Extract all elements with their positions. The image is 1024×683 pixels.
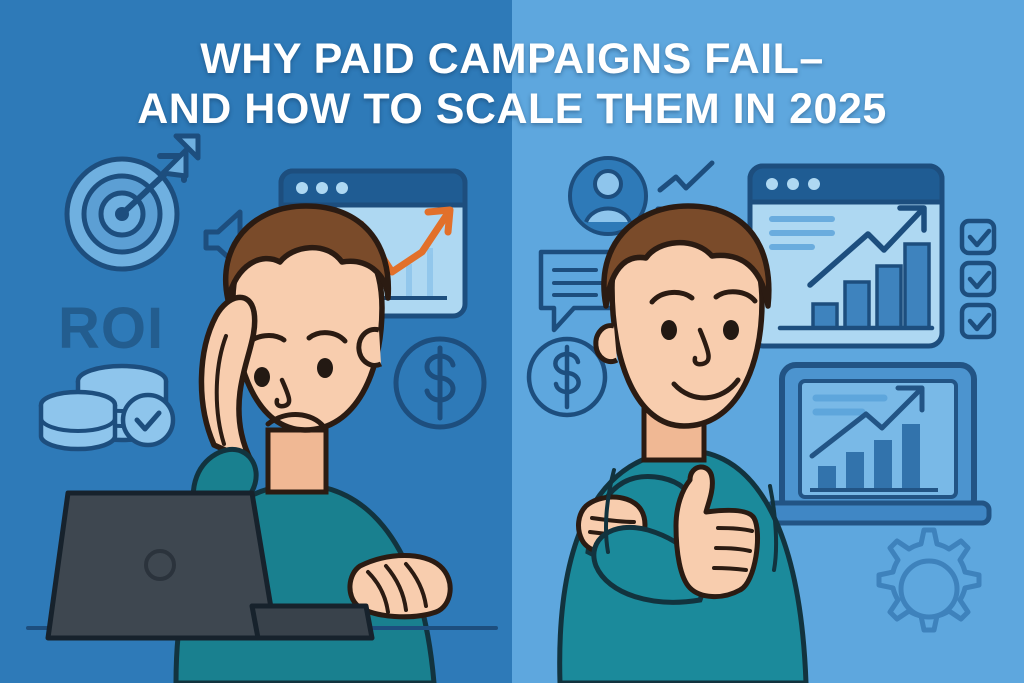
mini-line-chart-icon	[658, 163, 716, 209]
laptop-growth-dashboard[interactable]	[767, 365, 989, 523]
checkbox-item-2[interactable]	[962, 263, 994, 295]
browser-window-growth-chart[interactable]	[750, 166, 942, 346]
right-eye	[317, 358, 333, 378]
svg-text:ROI: ROI	[58, 296, 164, 361]
browser-dot-1	[296, 182, 308, 194]
left-eye	[661, 320, 677, 340]
roi-text-graphic: ROI	[58, 296, 164, 361]
checkbox-item-3[interactable]	[962, 305, 994, 337]
browser-dot-3	[808, 178, 820, 190]
right-eye	[723, 320, 739, 340]
checklist-group[interactable]	[962, 221, 994, 337]
gear-icon	[879, 530, 979, 630]
poster-canvas: ROI	[0, 0, 1024, 683]
target-with-arrow-icon	[67, 136, 198, 269]
browser-dot-3	[336, 182, 348, 194]
left-eye	[254, 367, 270, 387]
confident-person	[560, 206, 806, 683]
dollar-circle-icon-right	[529, 339, 605, 415]
illustration-layer: ROI	[0, 0, 1024, 683]
dollar-circle-icon-left	[396, 339, 484, 427]
browser-dot-2	[316, 182, 328, 194]
browser-dot-2	[787, 178, 799, 190]
checkbox-item-1[interactable]	[962, 221, 994, 253]
browser-dot-1	[766, 178, 778, 190]
coin-stack-check-icon	[41, 366, 173, 449]
